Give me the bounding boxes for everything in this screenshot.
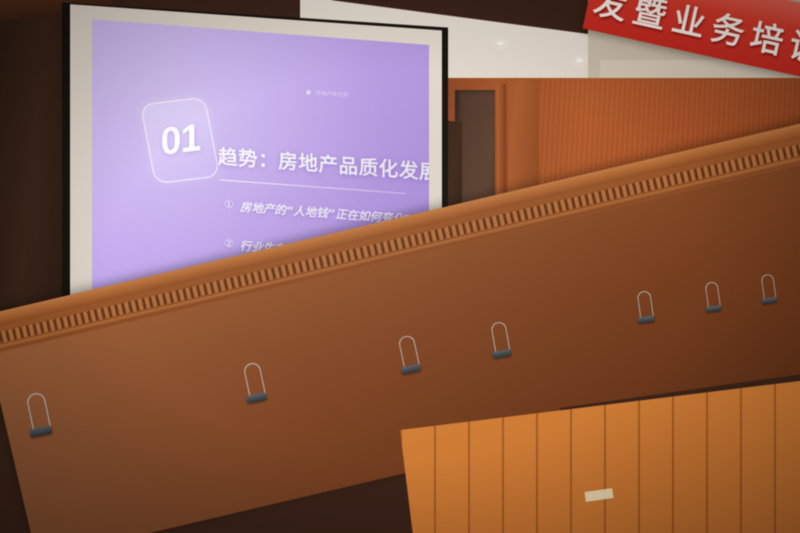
bullet-marker: ①: [224, 198, 234, 212]
title-divider: [220, 179, 406, 194]
circle-mark-icon: [304, 88, 313, 98]
section-number: 01: [156, 117, 204, 165]
bullet-marker: ②: [224, 237, 234, 251]
ceiling-light-icon: [494, 41, 507, 47]
conference-photo-scene: 发暨业务培训会 房地产研究院 01 趋势：房地产品质化发展时代的到来 ①: [0, 0, 800, 533]
slide-logo-text: 房地产研究院: [316, 89, 348, 98]
ceiling-light-icon: [573, 58, 586, 64]
section-number-badge: 01: [140, 97, 220, 184]
slide-logo: 房地产研究院: [304, 88, 348, 100]
slide-title: 趋势：房地产品质化发展时代的到来: [218, 140, 429, 193]
